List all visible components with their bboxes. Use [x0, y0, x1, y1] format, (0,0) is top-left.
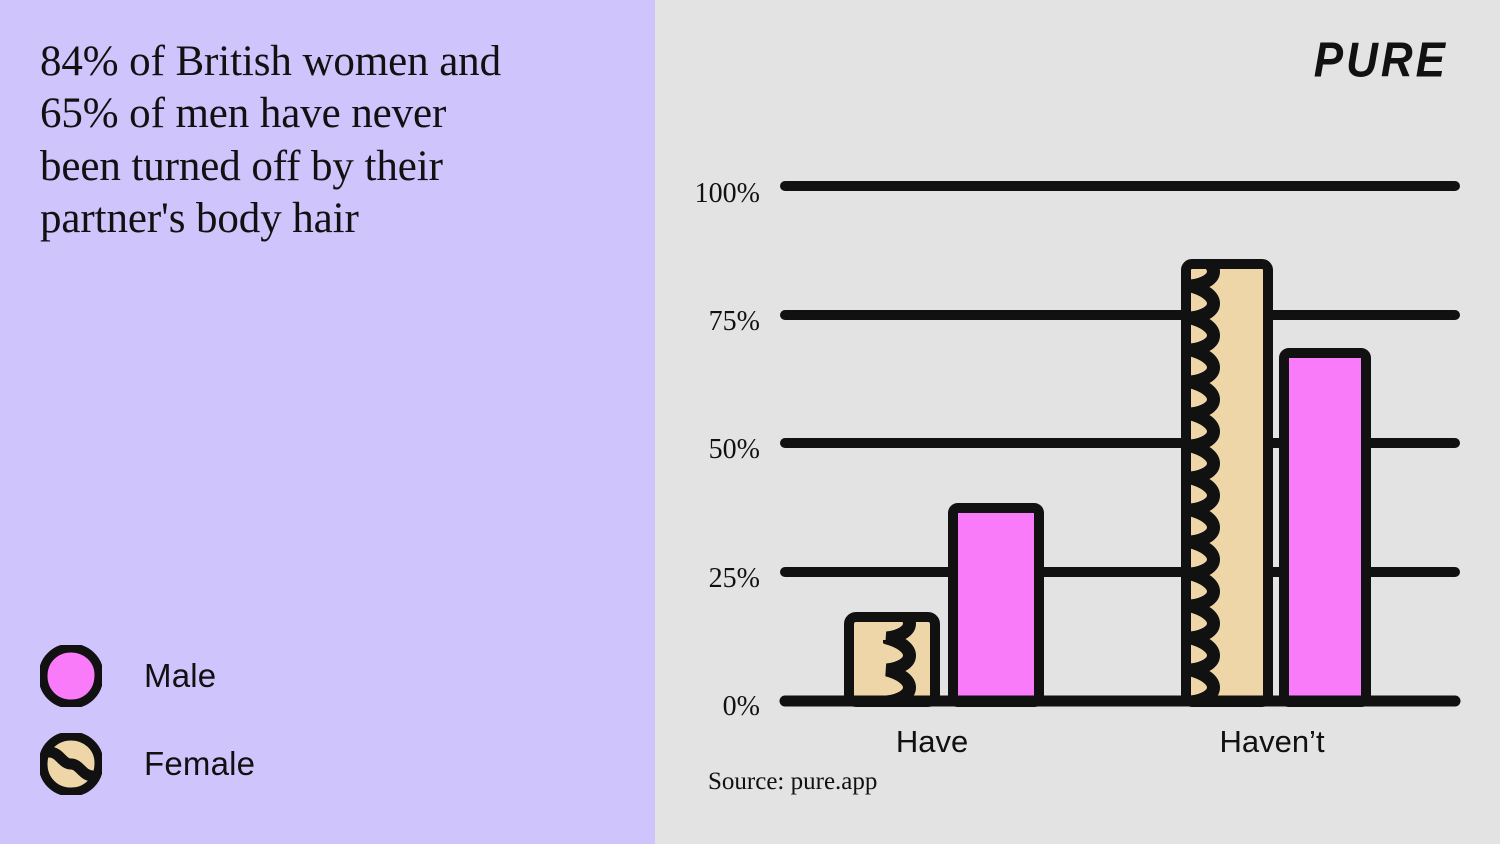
- male-pink-circle-icon: [40, 645, 102, 707]
- bar-chart: 100% 75% 50% 25% 0% Have Haven’t Source:…: [655, 0, 1500, 844]
- ytick-100: 100%: [650, 178, 760, 210]
- chart-legend: Male Female: [40, 632, 440, 808]
- female-tan-squiggle-circle-icon: [40, 733, 102, 795]
- legend-item-female: Female: [40, 720, 440, 808]
- ytick-25: 25%: [650, 563, 760, 595]
- legend-label-male: Male: [144, 657, 216, 695]
- left-panel: 84% of British women and 65% of men have…: [0, 0, 655, 844]
- page-title: 84% of British women and 65% of men have…: [40, 36, 630, 246]
- xtick-havent: Haven’t: [1219, 724, 1324, 760]
- bar-chart-svg: [655, 0, 1500, 844]
- ytick-75: 75%: [650, 306, 760, 338]
- source-credit: Source: pure.app: [708, 768, 877, 796]
- right-panel: PURE: [655, 0, 1500, 844]
- ytick-50: 50%: [650, 434, 760, 466]
- legend-label-female: Female: [144, 745, 255, 783]
- bar-havent-male: [1284, 353, 1366, 702]
- ytick-0: 0%: [650, 691, 760, 723]
- bar-havent-female: [1186, 264, 1268, 702]
- infographic-poster: 84% of British women and 65% of men have…: [0, 0, 1500, 844]
- xtick-have: Have: [896, 724, 968, 760]
- bar-have-male: [953, 508, 1039, 702]
- legend-item-male: Male: [40, 632, 440, 720]
- bar-have-female: [849, 617, 935, 702]
